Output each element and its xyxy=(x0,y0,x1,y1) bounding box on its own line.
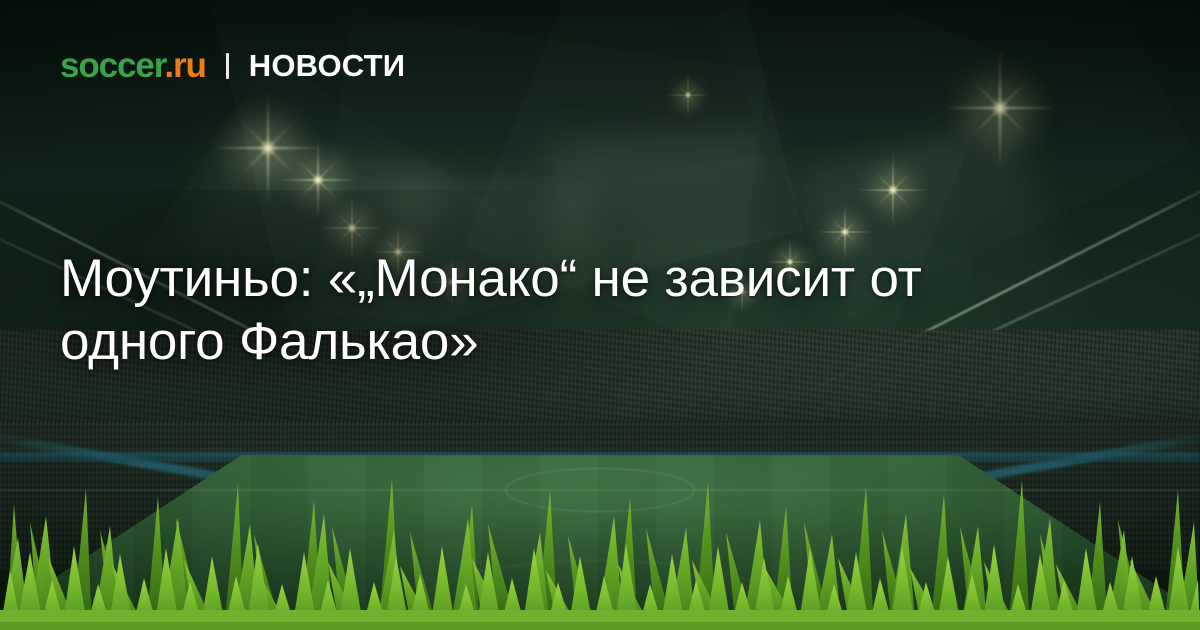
foreground-grass xyxy=(0,460,1200,630)
logo-text-soccer: soccer xyxy=(60,46,164,85)
header-separator-icon xyxy=(226,53,229,79)
logo-text-ru: .ru xyxy=(164,46,205,85)
news-share-card: soccer.ru НОВОСТИ Моутиньо: «„Монако“ не… xyxy=(0,0,1200,630)
site-header: soccer.ru НОВОСТИ xyxy=(60,48,405,83)
article-headline: Моутиньо: «„Монако“ не зависит от одного… xyxy=(60,247,1095,373)
section-kicker-novosti: НОВОСТИ xyxy=(249,50,405,81)
soccer-ru-logo[interactable]: soccer.ru xyxy=(60,48,206,83)
